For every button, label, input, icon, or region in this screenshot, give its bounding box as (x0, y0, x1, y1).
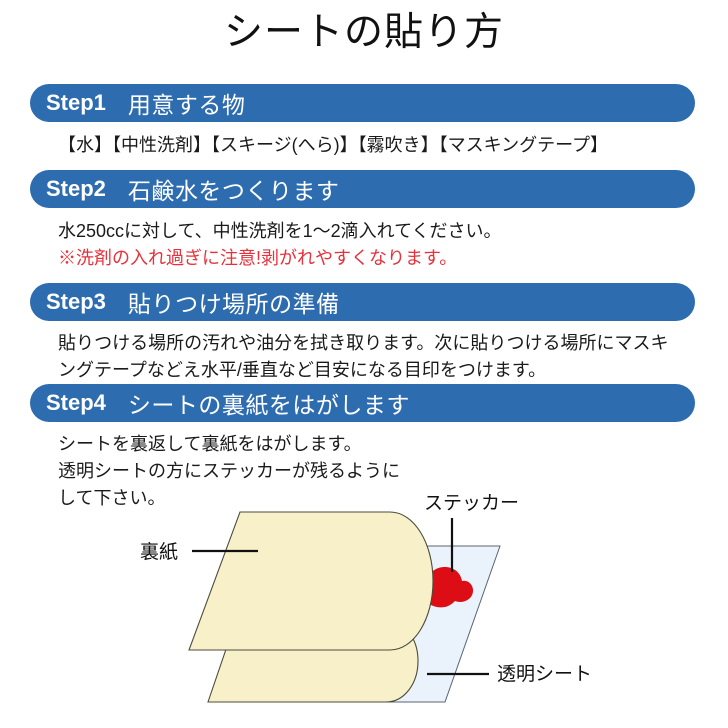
step-heading-2: 石鹸水をつくります (128, 172, 340, 206)
step-header-1: Step1 用意する物 (30, 84, 695, 122)
step-heading-1: 用意する物 (128, 86, 246, 120)
step-header-4: Step4 シートの裏紙をはがします (30, 384, 695, 422)
step-body-2-line-1: 水250ccに対して、中性洗剤を1〜2滴入れてください。 (58, 218, 502, 245)
step-body-2-warning: ※洗剤の入れ過ぎに注意!剥がれやすくなります。 (58, 245, 502, 272)
step-body-3: 貼りつける場所の汚れや油分を拭き取ります。次に貼りつける場所にマスキ ングテープ… (58, 330, 669, 384)
peel-diagram: Toy Poodle Cocoa (0, 470, 728, 728)
page-title: シートの貼り方 (0, 6, 728, 60)
step-number-4: Step4 (46, 390, 106, 416)
step-number-1: Step1 (46, 90, 106, 116)
diagram-label-clear-sheet: 透明シート (497, 663, 592, 687)
diagram-label-sticker: ステッカー (424, 492, 519, 516)
peel-diagram-svg: Toy Poodle Cocoa (0, 470, 728, 728)
instruction-sheet: シートの貼り方 Step1 用意する物 【水】【中性洗剤】【スキージ(へら)】【… (0, 0, 728, 728)
step-number-3: Step3 (46, 289, 106, 315)
step-number-2: Step2 (46, 176, 106, 202)
step-heading-3: 貼りつけ場所の準備 (128, 285, 340, 319)
diagram-label-backing-paper: 裏紙 (140, 541, 178, 565)
step-body-4-line-1: シートを裏返して裏紙をはがします。 (58, 431, 400, 458)
step-header-2: Step2 石鹸水をつくります (30, 170, 695, 208)
step-heading-4: シートの裏紙をはがします (128, 386, 410, 420)
step-header-3: Step3 貼りつけ場所の準備 (30, 283, 695, 321)
step-body-2: 水250ccに対して、中性洗剤を1〜2滴入れてください。 ※洗剤の入れ過ぎに注意… (58, 218, 502, 272)
step-body-3-line-1: 貼りつける場所の汚れや油分を拭き取ります。次に貼りつける場所にマスキ (58, 330, 669, 357)
step-body-3-line-2: ングテープなどえ水平/垂直など目安になる目印をつけます。 (58, 357, 669, 384)
backing-paper-shape (189, 512, 433, 650)
step-body-1: 【水】【中性洗剤】【スキージ(へら)】【霧吹き】【マスキングテープ】 (58, 132, 608, 159)
step-body-1-line-1: 【水】【中性洗剤】【スキージ(へら)】【霧吹き】【マスキングテープ】 (58, 132, 608, 159)
